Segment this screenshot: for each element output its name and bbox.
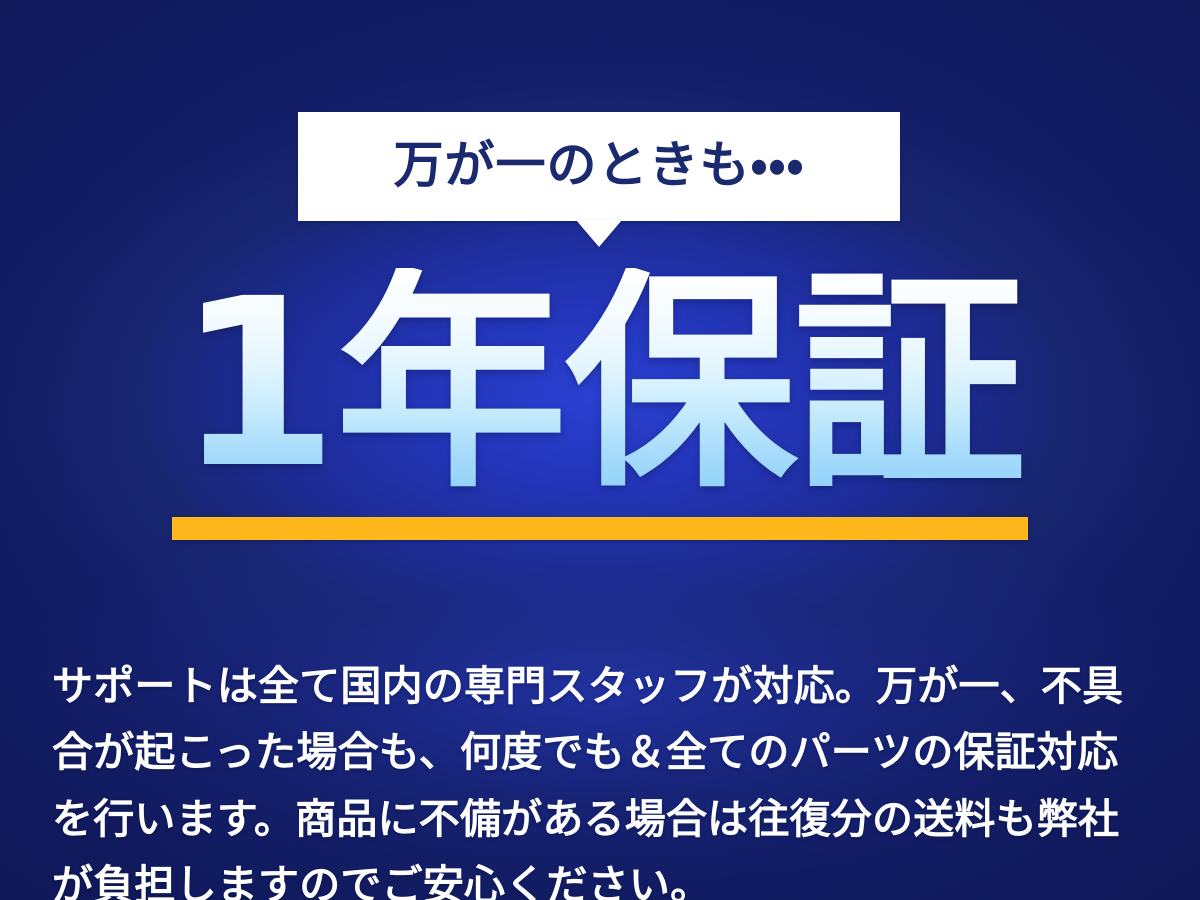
speech-bubble-tail-icon <box>576 220 622 247</box>
promo-banner: 万が一のときも・・・ 1年保証 サポートは全て国内の専門スタッフが対応。万が一、… <box>0 0 1200 900</box>
speech-bubble: 万が一のときも・・・ <box>298 112 900 221</box>
body-copy: サポートは全て国内の専門スタッフが対応。万が一、不具合が起こった場合も、何度でも… <box>52 653 1157 900</box>
speech-bubble-label: 万が一のときも・・・ <box>298 112 900 221</box>
accent-bar <box>172 517 1028 540</box>
